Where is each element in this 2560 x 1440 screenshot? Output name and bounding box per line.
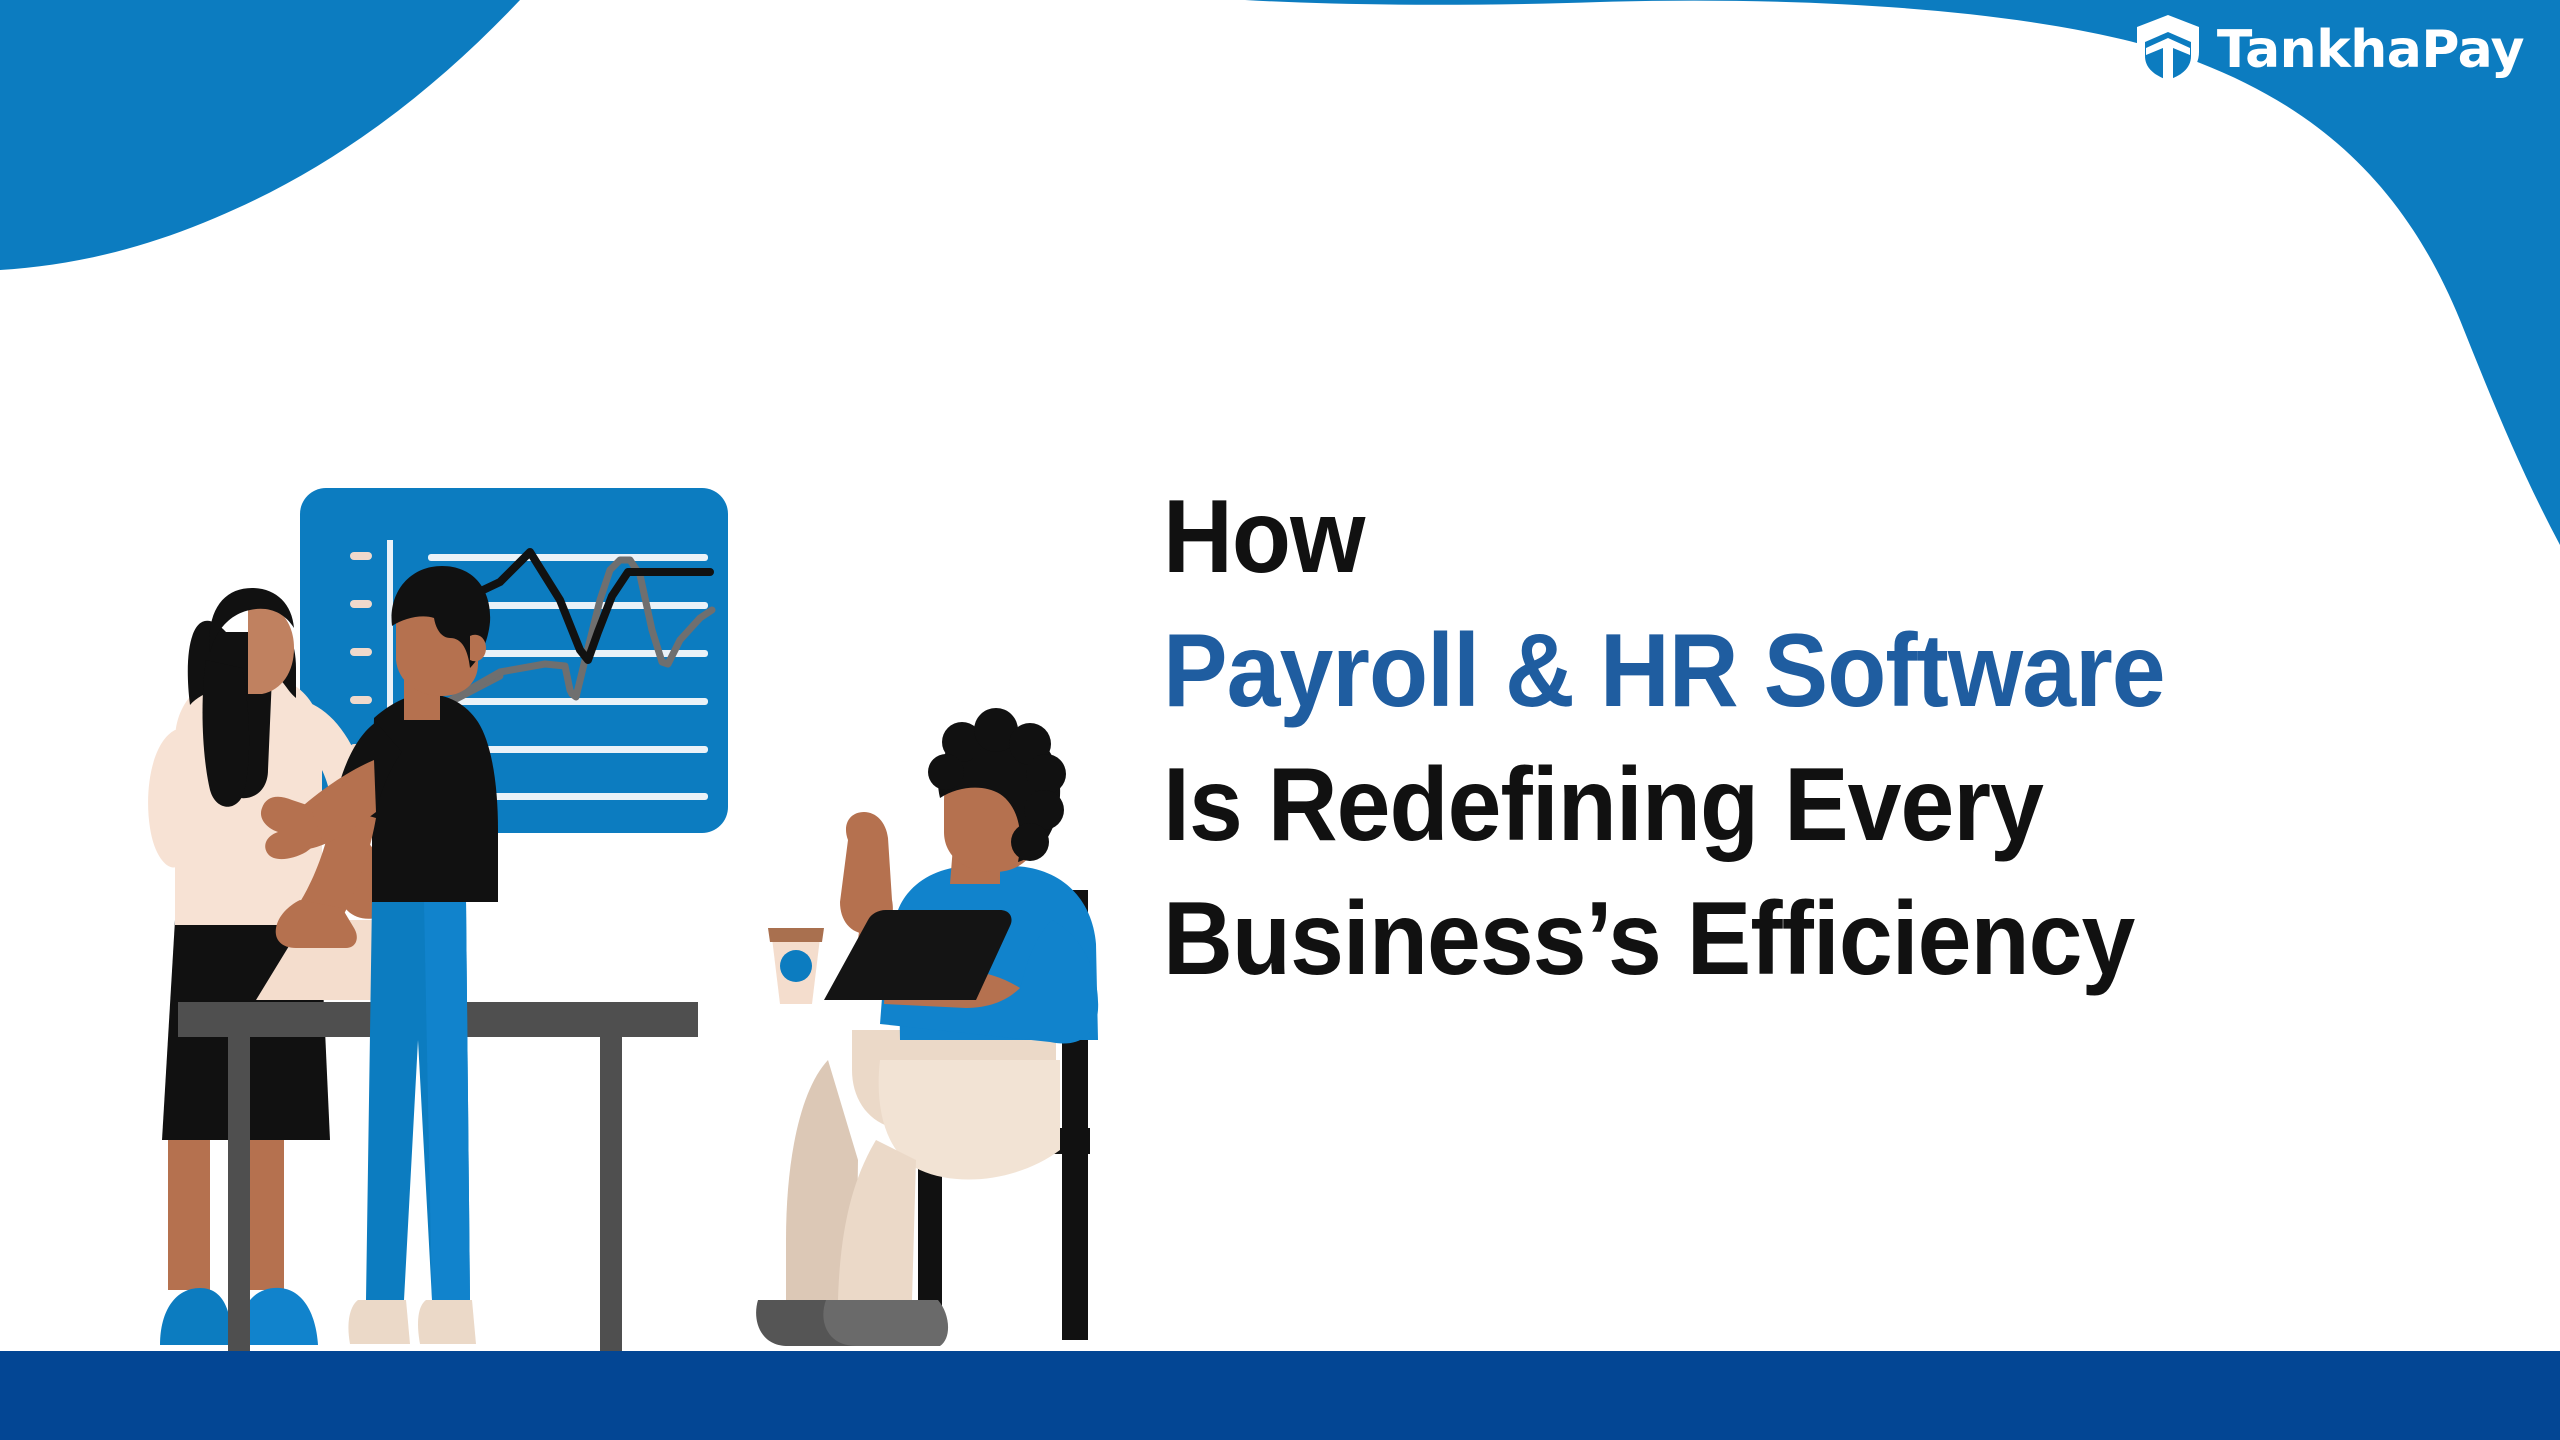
desk-leg-right <box>600 1037 622 1367</box>
promo-banner: How Payroll & HR Software Is Redefining … <box>0 0 2560 1440</box>
cup-lid <box>768 928 824 942</box>
bottom-navy-bar <box>0 1351 2560 1440</box>
headline-line-1: How <box>1163 470 2400 604</box>
woman-left-shoe <box>160 1288 232 1345</box>
cup-logo <box>780 950 812 982</box>
brand-name: TankhaPay <box>2217 24 2524 76</box>
man-left-shoe <box>348 1300 410 1344</box>
headline-line-2: Payroll & HR Software <box>1163 604 2400 738</box>
man-right-shoe <box>418 1300 476 1344</box>
desk-leg-left <box>228 1037 250 1367</box>
headline-line-3: Is Redefining Every <box>1163 738 2400 872</box>
headline-block: How Payroll & HR Software Is Redefining … <box>1163 470 2493 1007</box>
woman-left-sleeve <box>148 730 178 867</box>
woman-left-leg <box>168 1130 210 1290</box>
brand-logo[interactable]: TankhaPay <box>2135 14 2524 86</box>
seated-shoe-front <box>823 1300 948 1346</box>
coffee-cup <box>768 928 824 1004</box>
team-presentation-illustration <box>0 0 1160 1440</box>
man-trouser-shade <box>424 900 470 1300</box>
woman-hair-strand <box>203 660 250 807</box>
shield-arrow-icon <box>2135 14 2201 86</box>
headline-line-4: Business’s Efficiency <box>1163 872 2400 1006</box>
man-tshirt <box>372 694 498 902</box>
